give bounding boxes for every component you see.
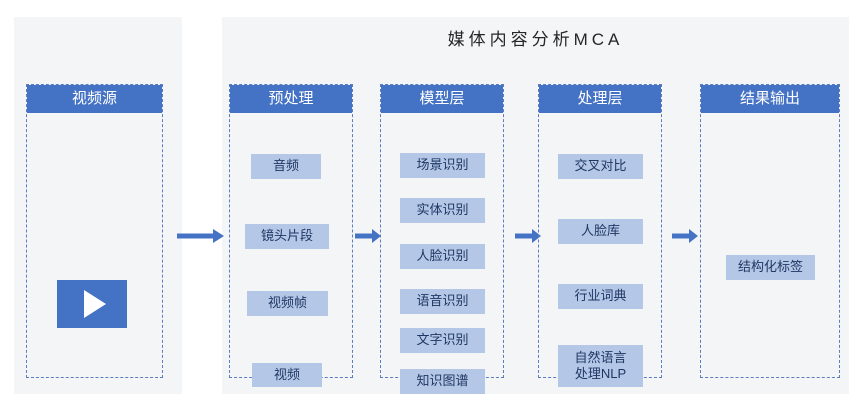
diagram-canvas: 媒体内容分析MCA 视频源 预处理 音频 镜头片段 视频帧 视频 模型层 [0, 0, 859, 411]
node-video-frame[interactable]: 视频帧 [247, 291, 328, 316]
node-face-database[interactable]: 人脸库 [558, 219, 643, 244]
stage-model-layer-body: 场景识别 实体识别 人脸识别 语音识别 文字识别 知识图谱 [381, 113, 503, 377]
stage-video-source-body [27, 113, 162, 377]
node-shot-segment[interactable]: 镜头片段 [245, 224, 329, 249]
play-triangle [84, 290, 106, 318]
stage-preprocessing-body: 音频 镜头片段 视频帧 视频 [230, 113, 352, 377]
node-entity-recognition[interactable]: 实体识别 [400, 198, 485, 223]
node-face-recognition[interactable]: 人脸识别 [400, 244, 485, 269]
stage-preprocessing[interactable]: 预处理 音频 镜头片段 视频帧 视频 [229, 84, 353, 378]
stage-preprocessing-header: 预处理 [230, 85, 352, 113]
stage-result-output[interactable]: 结果输出 结构化标签 [700, 84, 840, 378]
play-icon[interactable] [57, 280, 127, 328]
node-industry-dictionary[interactable]: 行业词典 [558, 284, 643, 309]
stage-video-source-header: 视频源 [27, 85, 162, 113]
arrow-preprocessing-to-model [355, 228, 382, 244]
stage-processing-layer[interactable]: 处理层 交叉对比 人脸库 行业词典 自然语言 处理NLP [538, 84, 662, 378]
stage-video-source[interactable]: 视频源 [26, 84, 163, 378]
node-structured-tags[interactable]: 结构化标签 [726, 255, 815, 280]
node-audio[interactable]: 音频 [251, 154, 321, 179]
node-text-recognition[interactable]: 文字识别 [400, 328, 485, 353]
node-cross-comparison[interactable]: 交叉对比 [558, 154, 643, 179]
node-speech-recognition[interactable]: 语音识别 [400, 289, 485, 314]
arrow-processing-to-output [672, 228, 699, 244]
arrow-source-to-preprocessing [177, 228, 225, 244]
node-nlp[interactable]: 自然语言 处理NLP [558, 345, 643, 387]
node-video[interactable]: 视频 [252, 363, 322, 387]
stage-model-layer[interactable]: 模型层 场景识别 实体识别 人脸识别 语音识别 文字识别 知识图谱 [380, 84, 504, 378]
stage-result-output-body: 结构化标签 [701, 113, 839, 377]
diagram-title: 媒体内容分析MCA [222, 18, 849, 62]
stage-result-output-header: 结果输出 [701, 85, 839, 113]
stage-processing-layer-header: 处理层 [539, 85, 661, 113]
stage-processing-layer-body: 交叉对比 人脸库 行业词典 自然语言 处理NLP [539, 113, 661, 377]
node-scene-recognition[interactable]: 场景识别 [400, 153, 485, 178]
node-knowledge-graph[interactable]: 知识图谱 [400, 369, 485, 394]
stage-model-layer-header: 模型层 [381, 85, 503, 113]
